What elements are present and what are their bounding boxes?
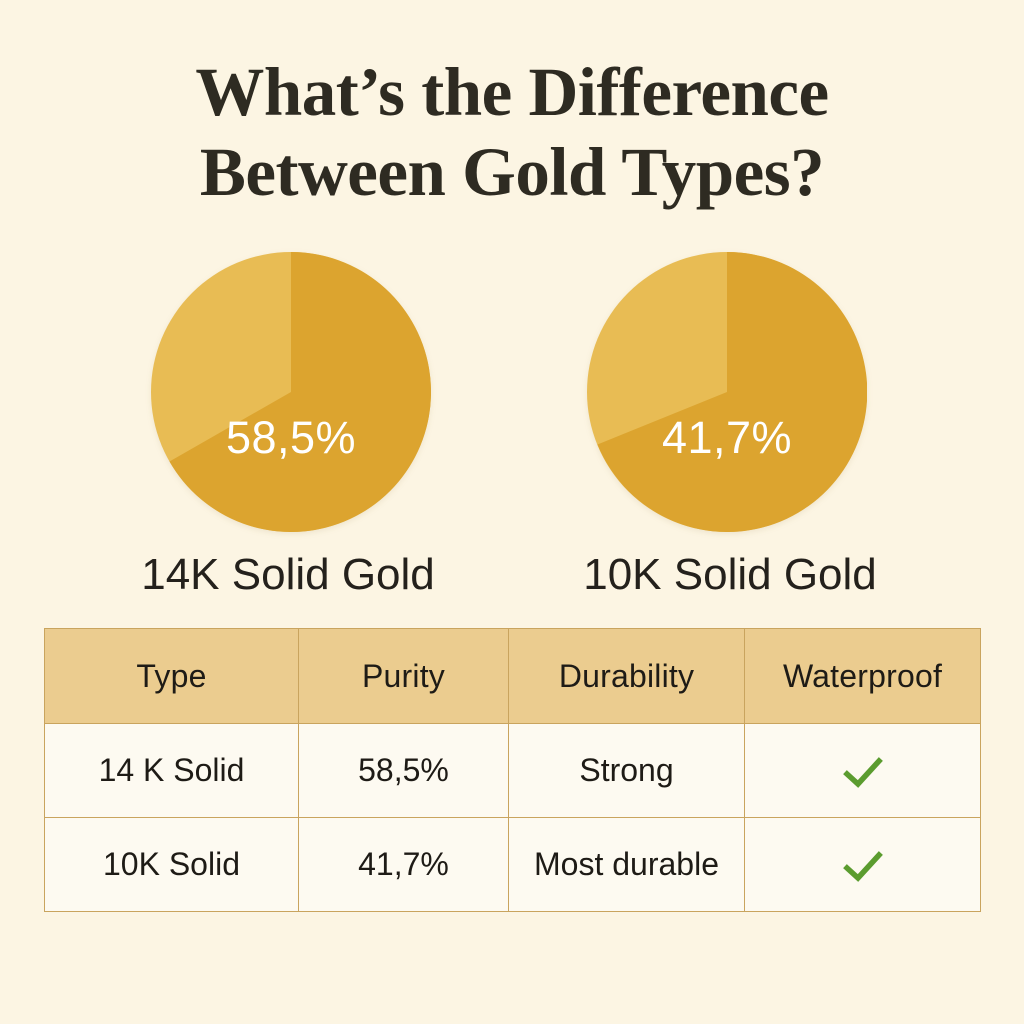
pie-captions-row: 14K Solid Gold 10K Solid Gold [0,548,1024,604]
cell-durability: Strong [509,724,745,818]
column-header-type: Type [45,629,299,724]
pie-chart-icon [151,252,431,532]
table-row: 10K Solid 41,7% Most durable [45,818,981,912]
table-row: 14 K Solid 58,5% Strong [45,724,981,818]
caption-14k: 14K Solid Gold [70,548,506,602]
cell-type: 10K Solid [45,818,299,912]
chart-14k: 58,5% [73,252,509,542]
check-icon [843,851,883,883]
pie-chart-10k: 41,7% [587,252,867,532]
table-header: Type Purity Durability Waterproof [45,629,981,724]
comparison-table: Type Purity Durability Waterproof 14 K S… [44,628,981,912]
cell-type: 14 K Solid [45,724,299,818]
check-icon [843,757,883,789]
pie-chart-14k: 58,5% [151,252,431,532]
column-header-waterproof: Waterproof [745,629,981,724]
cell-purity: 41,7% [299,818,509,912]
cell-waterproof [745,724,981,818]
cell-purity: 58,5% [299,724,509,818]
column-header-purity: Purity [299,629,509,724]
table-header-row: Type Purity Durability Waterproof [45,629,981,724]
title-line-1: What’s the Difference [0,52,1024,132]
table-body: 14 K Solid 58,5% Strong 10K Solid 41,7% … [45,724,981,912]
cell-waterproof [745,818,981,912]
page-title: What’s the Difference Between Gold Types… [0,52,1024,212]
pie-chart-icon [587,252,867,532]
caption-10k: 10K Solid Gold [512,548,948,602]
column-header-durability: Durability [509,629,745,724]
cell-durability: Most durable [509,818,745,912]
chart-10k: 41,7% [509,252,945,542]
title-line-2: Between Gold Types? [0,132,1024,212]
infographic-page: What’s the Difference Between Gold Types… [0,0,1024,1024]
pie-charts-row: 58,5% 41,7% [0,252,1024,542]
